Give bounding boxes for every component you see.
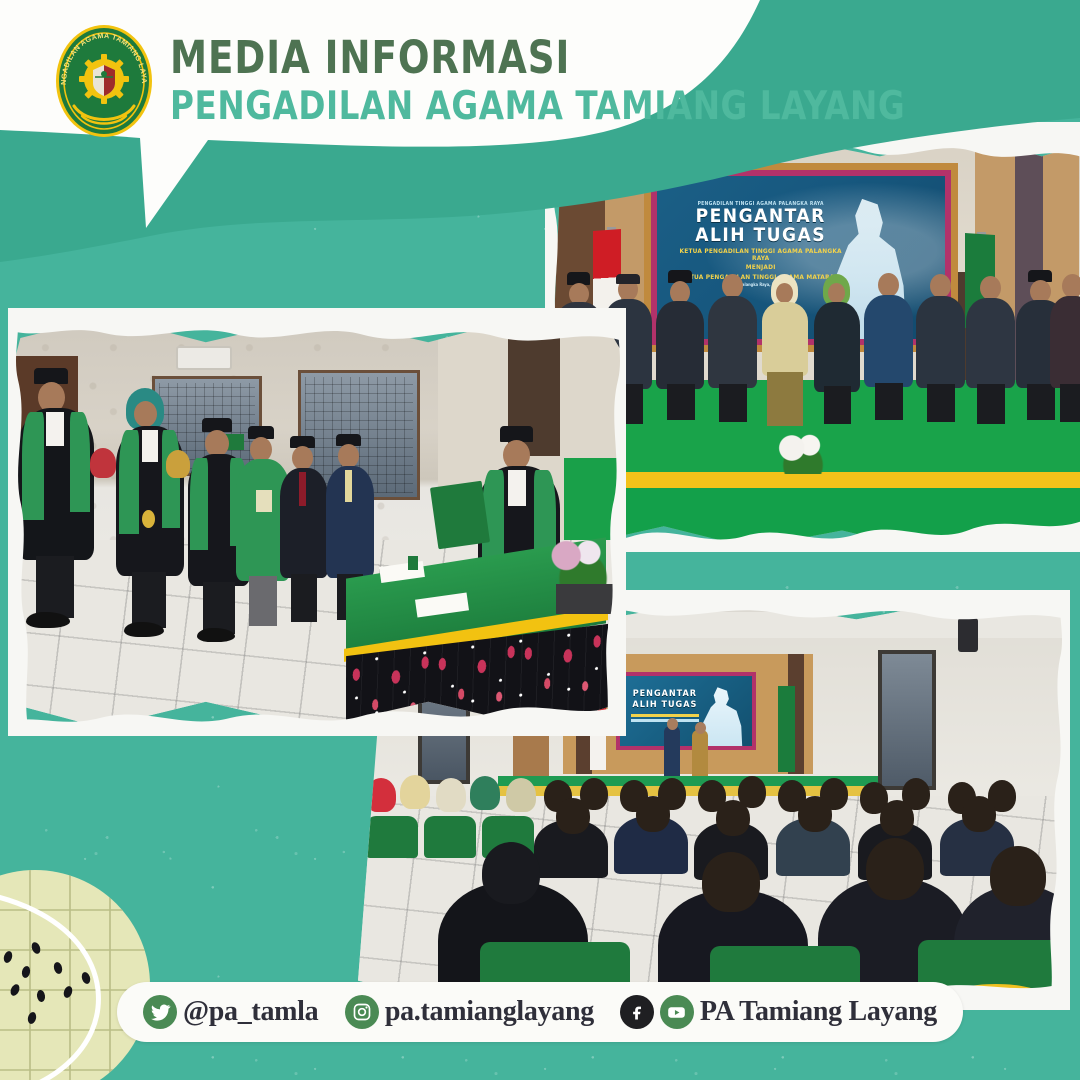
instagram-account[interactable]: pa.tamianglayang bbox=[345, 995, 594, 1029]
seal-emblem bbox=[79, 54, 129, 104]
twitter-icon[interactable] bbox=[143, 995, 177, 1029]
header: PENGADILAN AGAMA TAMIANG LAYANG bbox=[0, 0, 1080, 270]
social-footer-bar: @pa_tamla pa.tamianglayang PA Tam bbox=[117, 982, 963, 1042]
twitter-handle: @pa_tamla bbox=[183, 996, 318, 1028]
decree-folder bbox=[430, 481, 490, 550]
pengadilan-agama-seal-logo: PENGADILAN AGAMA TAMIANG LAYANG bbox=[52, 22, 156, 140]
youtube-icon[interactable] bbox=[660, 995, 694, 1029]
facebook-account[interactable] bbox=[620, 995, 654, 1029]
youtube-account[interactable]: PA Tamiang Layang bbox=[660, 995, 937, 1029]
instagram-icon[interactable] bbox=[345, 995, 379, 1029]
header-title-line1: MEDIA INFORMASI bbox=[170, 35, 897, 80]
youtube-channel-name: PA Tamiang Layang bbox=[700, 996, 937, 1028]
twitter-account[interactable]: @pa_tamla bbox=[143, 995, 318, 1029]
banner-subtitle-3: KETUA PENGADILAN TINGGI AGAMA MATARAM bbox=[671, 274, 850, 281]
header-title-line2: PENGADILAN AGAMA TAMIANG LAYANG bbox=[170, 85, 905, 129]
oath-ceremony-photo bbox=[8, 308, 626, 736]
instagram-handle: pa.tamianglayang bbox=[385, 996, 594, 1028]
facebook-icon[interactable] bbox=[620, 995, 654, 1029]
